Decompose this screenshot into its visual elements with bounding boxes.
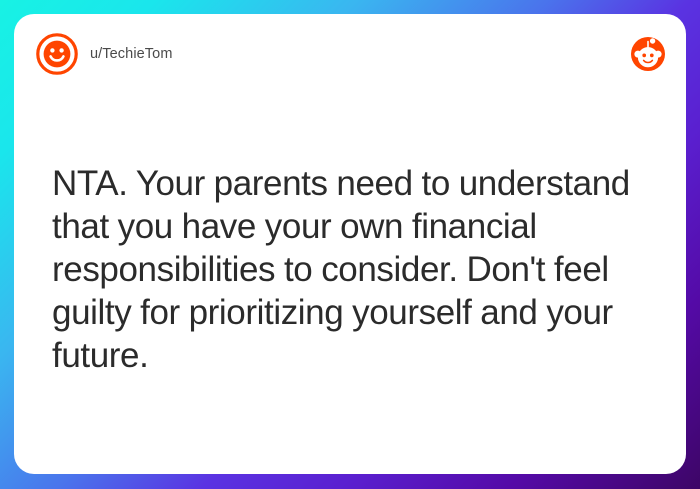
post-text: NTA. Your parents need to understand tha… <box>52 162 666 377</box>
reddit-snoo-icon <box>630 36 666 72</box>
post-header: u/TechieTom <box>14 14 686 94</box>
post-body: NTA. Your parents need to understand tha… <box>52 162 666 377</box>
username-label: u/TechieTom <box>90 46 173 62</box>
gradient-background: u/TechieTom NTA. Your parents n <box>0 0 700 489</box>
smiley-face-avatar-icon <box>36 33 78 75</box>
reddit-post-card: u/TechieTom NTA. Your parents n <box>14 14 686 474</box>
